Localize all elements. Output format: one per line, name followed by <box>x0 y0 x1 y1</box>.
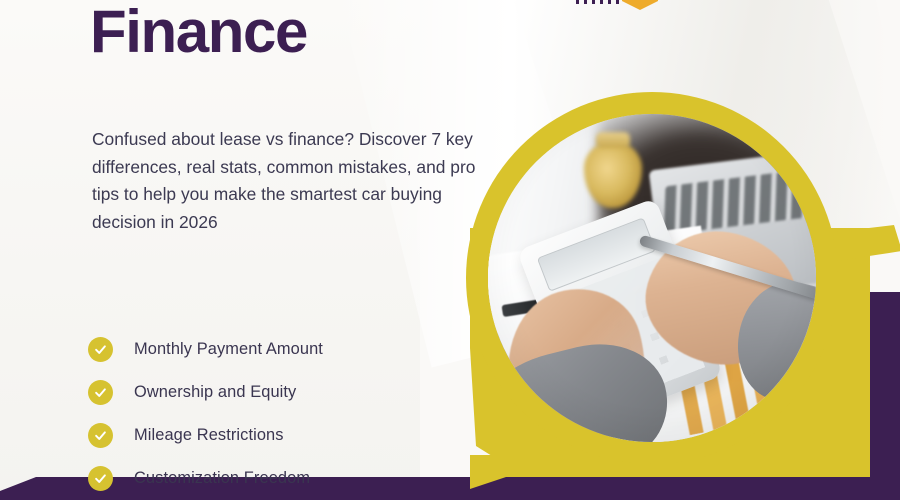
list-item-label: Ownership and Equity <box>134 383 296 402</box>
check-icon <box>88 380 113 405</box>
list-item: Customization Freedom <box>88 457 448 500</box>
check-icon <box>88 337 113 362</box>
feature-checklist: Monthly Payment Amount Ownership and Equ… <box>88 328 448 500</box>
hexagon-icon <box>622 0 658 10</box>
hero-subcopy: Confused about lease vs finance? Discove… <box>92 126 484 236</box>
list-item-label: Monthly Payment Amount <box>134 340 323 359</box>
list-item: Ownership and Equity <box>88 371 448 414</box>
list-item: Mileage Restrictions <box>88 414 448 457</box>
bar-chart-icon <box>576 0 620 4</box>
list-item-label: Mileage Restrictions <box>134 426 284 445</box>
hero-photo <box>488 114 816 442</box>
hero-graphic: Lease vs Finance Confused about lease vs… <box>0 0 900 500</box>
photo-vignette <box>488 114 816 442</box>
brand-logo[interactable] <box>560 0 860 10</box>
check-icon <box>88 466 113 491</box>
list-item-label: Customization Freedom <box>134 469 310 488</box>
page-title: Lease vs Finance <box>90 0 510 61</box>
check-icon <box>88 423 113 448</box>
list-item: Monthly Payment Amount <box>88 328 448 371</box>
